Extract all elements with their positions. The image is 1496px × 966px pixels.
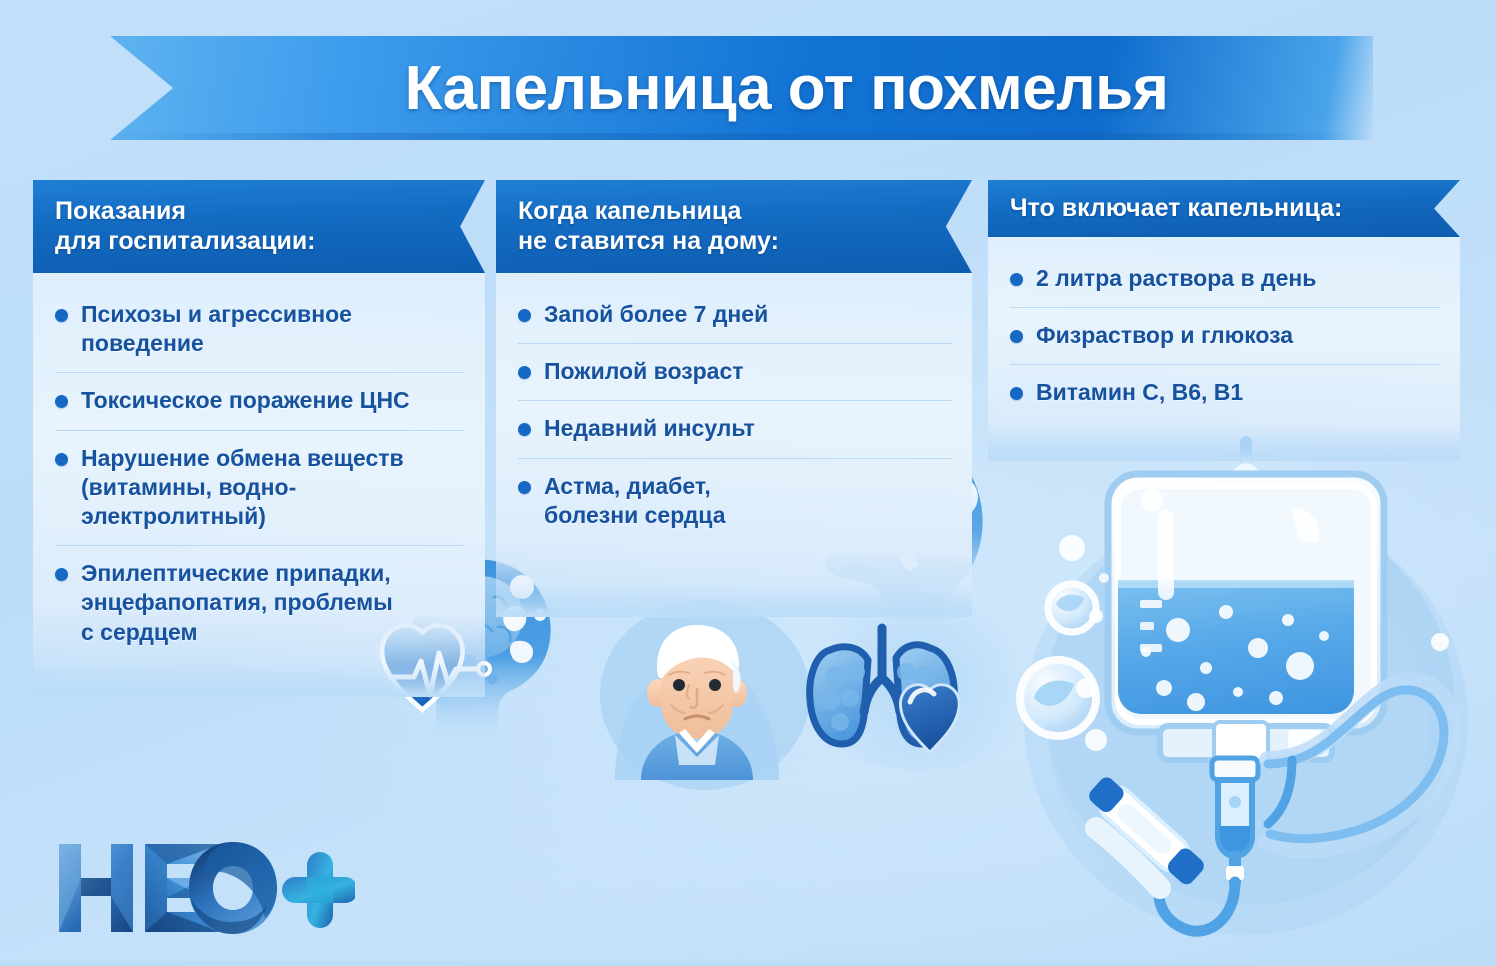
page-title: Капельница от похмелья bbox=[315, 53, 1169, 124]
list-item: 2 литра раствора в день bbox=[1010, 251, 1440, 308]
elderly-person-icon bbox=[605, 615, 790, 780]
list-item-text: Недавний инсульт bbox=[544, 414, 755, 443]
card-indications-body: Психозы и агрессивное поведение Токсичес… bbox=[33, 273, 485, 697]
list-item: Физраствор и глюкоза bbox=[1010, 308, 1440, 365]
list-item-text: Психозы и агрессивное поведение bbox=[81, 300, 352, 358]
card-indications: Показания для госпитализации: Психозы и … bbox=[33, 180, 485, 697]
bullet-dot-icon bbox=[55, 395, 68, 408]
card-not-at-home-header: Когда капельница не ставится на дому: bbox=[496, 180, 972, 273]
list-item-text: Эпилептические припадки, энцефапопатия, … bbox=[81, 559, 393, 647]
bullet-dot-icon bbox=[1010, 387, 1023, 400]
iv-bag-illustration bbox=[1000, 430, 1496, 961]
bullet-dot-icon bbox=[1010, 330, 1023, 343]
bullet-dot-icon bbox=[1010, 273, 1023, 286]
logo-plus-icon bbox=[282, 852, 355, 928]
decor-blob-mid bbox=[790, 600, 1050, 770]
title-banner: Капельница от похмелья bbox=[110, 36, 1373, 140]
logo-neo-plus bbox=[55, 838, 355, 938]
bullet-dot-icon bbox=[518, 366, 531, 379]
logo-letter-o bbox=[189, 842, 277, 934]
list-item: Запой более 7 дней bbox=[518, 287, 952, 344]
list-item-text: Витамин C, B6, B1 bbox=[1036, 378, 1243, 407]
list-item-text: Пожилой возраст bbox=[544, 357, 744, 386]
card-contents-title: Что включает капельница: bbox=[988, 180, 1342, 237]
list-item-text: Запой более 7 дней bbox=[544, 300, 768, 329]
card-indications-header: Показания для госпитализации: bbox=[33, 180, 485, 273]
list-item: Эпилептические припадки, энцефапопатия, … bbox=[55, 546, 465, 661]
card-contents-header: Что включает капельница: bbox=[988, 180, 1460, 237]
list-item: Астма, диабет, болезни сердца bbox=[518, 459, 952, 544]
card-not-at-home-body: Запой более 7 дней Пожилой возраст Недав… bbox=[496, 273, 972, 617]
card-not-at-home: Когда капельница не ставится на дому: За… bbox=[496, 180, 972, 617]
card-contents-body: 2 литра раствора в день Физраствор и глю… bbox=[988, 237, 1460, 461]
decor-blob-left bbox=[600, 600, 810, 790]
logo-letter-n bbox=[59, 844, 133, 932]
list-item-text: 2 литра раствора в день bbox=[1036, 264, 1316, 293]
bullet-dot-icon bbox=[518, 481, 531, 494]
card-contents: Что включает капельница: 2 литра раствор… bbox=[988, 180, 1460, 461]
card-not-at-home-title: Когда капельница не ставится на дому: bbox=[496, 183, 779, 270]
list-item: Витамин C, B6, B1 bbox=[1010, 365, 1440, 421]
bullet-dot-icon bbox=[55, 453, 68, 466]
card-indications-title: Показания для госпитализации: bbox=[33, 183, 316, 270]
list-item-text: Астма, диабет, болезни сердца bbox=[544, 472, 726, 530]
bullet-dot-icon bbox=[55, 568, 68, 581]
list-item: Нарушение обмена веществ (витамины, водн… bbox=[55, 431, 465, 547]
list-item: Токсическое поражение ЦНС bbox=[55, 373, 465, 430]
lungs-heart-icon bbox=[800, 620, 980, 770]
list-item-text: Физраствор и глюкоза bbox=[1036, 321, 1293, 350]
bullet-dot-icon bbox=[518, 423, 531, 436]
list-item-text: Нарушение обмена веществ (витамины, водн… bbox=[81, 444, 465, 532]
bullet-dot-icon bbox=[518, 309, 531, 322]
list-item-text: Токсическое поражение ЦНС bbox=[81, 386, 410, 415]
list-item: Недавний инсульт bbox=[518, 401, 952, 458]
list-item: Психозы и агрессивное поведение bbox=[55, 287, 465, 373]
list-item: Пожилой возраст bbox=[518, 344, 952, 401]
bullet-dot-icon bbox=[55, 309, 68, 322]
decor-blob-right bbox=[1045, 505, 1455, 905]
infographic-canvas: Капельница от похмелья bbox=[0, 0, 1496, 961]
